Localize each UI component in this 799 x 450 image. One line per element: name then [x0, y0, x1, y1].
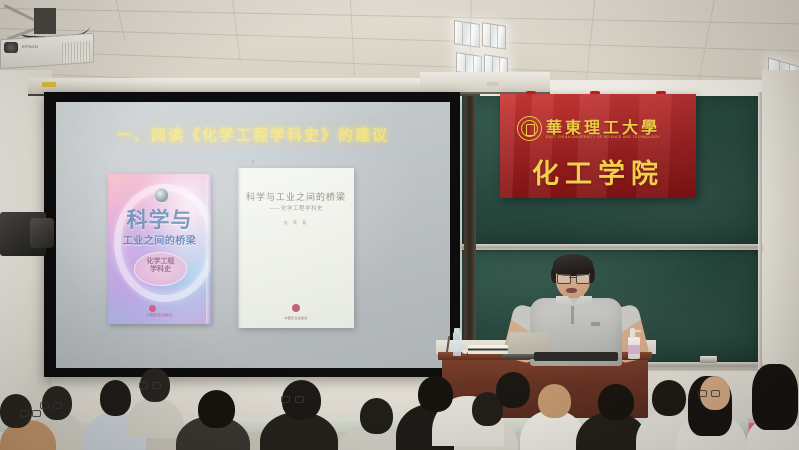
- ceiling-light-panel: [454, 20, 480, 48]
- speaker-mouth: [566, 288, 577, 293]
- cover-subtitle-line2: 学科史: [150, 265, 171, 273]
- university-name-en: EAST CHINA UNIVERSITY OF SCIENCE AND TEC…: [546, 135, 688, 139]
- audience-member: [360, 398, 393, 434]
- ceiling-tile-grid: [0, 0, 799, 86]
- wall-speaker-bracket: [30, 218, 54, 248]
- glasses-icon: [139, 382, 161, 387]
- slide-marker: [252, 160, 254, 163]
- water-bottle[interactable]: [453, 332, 461, 356]
- glasses-icon: [20, 410, 40, 415]
- book-cover-image: 科学与 工业之间的桥梁 化学工程 学科史 中国石化出版社: [108, 174, 211, 324]
- sanitizer-label: [628, 345, 640, 354]
- audience-member: [100, 380, 131, 416]
- audience-member: [418, 376, 453, 412]
- audience-member: [598, 384, 634, 420]
- audience-member-long-hair: [752, 364, 798, 430]
- chalk-eraser: [700, 356, 717, 363]
- publisher-logo-icon: [149, 305, 156, 312]
- chalkboard-frame-right: [758, 92, 762, 370]
- page-title: 科学与工业之间的桥梁: [238, 190, 354, 203]
- ceiling: [0, 0, 799, 86]
- stacked-books[interactable]: [468, 345, 508, 354]
- audience-member: [198, 390, 235, 428]
- page-subtitle: ——化学工程学科史: [238, 204, 354, 212]
- department-banner: 華東理工大學 EAST CHINA UNIVERSITY OF SCIENCE …: [500, 94, 696, 198]
- speaker-hair: [553, 254, 593, 276]
- cover-title-line2: 工业之间的桥梁: [108, 232, 211, 247]
- speaker-shirt-logo: [591, 322, 600, 326]
- glasses-icon: [698, 390, 720, 395]
- cover-seal-icon: [154, 188, 169, 203]
- projection-screen[interactable]: 一、阅读《化学工程学科史》的建议 科学与 工业之间的桥梁 化学工程 学科史 中国…: [56, 102, 450, 368]
- speaker-glasses-icon: [557, 274, 588, 282]
- audience-member: [496, 372, 530, 408]
- book-title-page-image: 科学与工业之间的桥梁 ——化学工程学科史 张 藜 著 中国石化出版社: [238, 168, 354, 328]
- projector-lens-icon: [4, 42, 18, 53]
- page-author: 张 藜 著: [238, 220, 354, 226]
- slide-divider: [66, 154, 440, 155]
- banner-tie: [526, 91, 536, 97]
- water-bottle-cap: [454, 328, 460, 333]
- audience-member: [538, 384, 571, 418]
- housing-label: [487, 82, 498, 86]
- glasses-icon: [40, 402, 62, 407]
- page-publisher-logo-icon: [292, 304, 300, 312]
- book-spine: [206, 174, 211, 324]
- projector-vent: [62, 41, 90, 63]
- banner-tie: [590, 91, 600, 97]
- lecture-hall-photo: 華東理工大學 EAST CHINA UNIVERSITY OF SCIENCE …: [0, 0, 799, 450]
- speaker-belt: [534, 352, 618, 361]
- ceiling-light-panel: [482, 22, 506, 50]
- projector-brand-label: EPSON: [22, 44, 38, 49]
- banner-tie: [656, 91, 666, 97]
- housing-sticker: [42, 82, 56, 87]
- audience-member: [652, 380, 686, 416]
- cover-subtitle-oval: 化学工程 学科史: [134, 252, 187, 286]
- speaker-shirt-placket: [571, 306, 574, 324]
- slide-title: 一、阅读《化学工程学科史》的建议: [56, 124, 450, 145]
- cover-publisher: 中国石化出版社: [108, 313, 211, 318]
- cover-subtitle-line1: 化学工程: [147, 257, 175, 265]
- cover-title-line1: 科学与: [108, 204, 211, 234]
- small-object: [462, 349, 468, 354]
- chalkboard-divider-post: [464, 96, 476, 368]
- projector-mount-bracket: [34, 8, 56, 34]
- sanitizer-nozzle: [634, 330, 641, 332]
- glasses-icon: [281, 396, 305, 401]
- chalkboard-rail: [462, 244, 762, 250]
- department-name-cn: 化工学院: [500, 152, 696, 191]
- university-crest-icon: [517, 116, 542, 141]
- page-publisher: 中国石化出版社: [238, 316, 354, 320]
